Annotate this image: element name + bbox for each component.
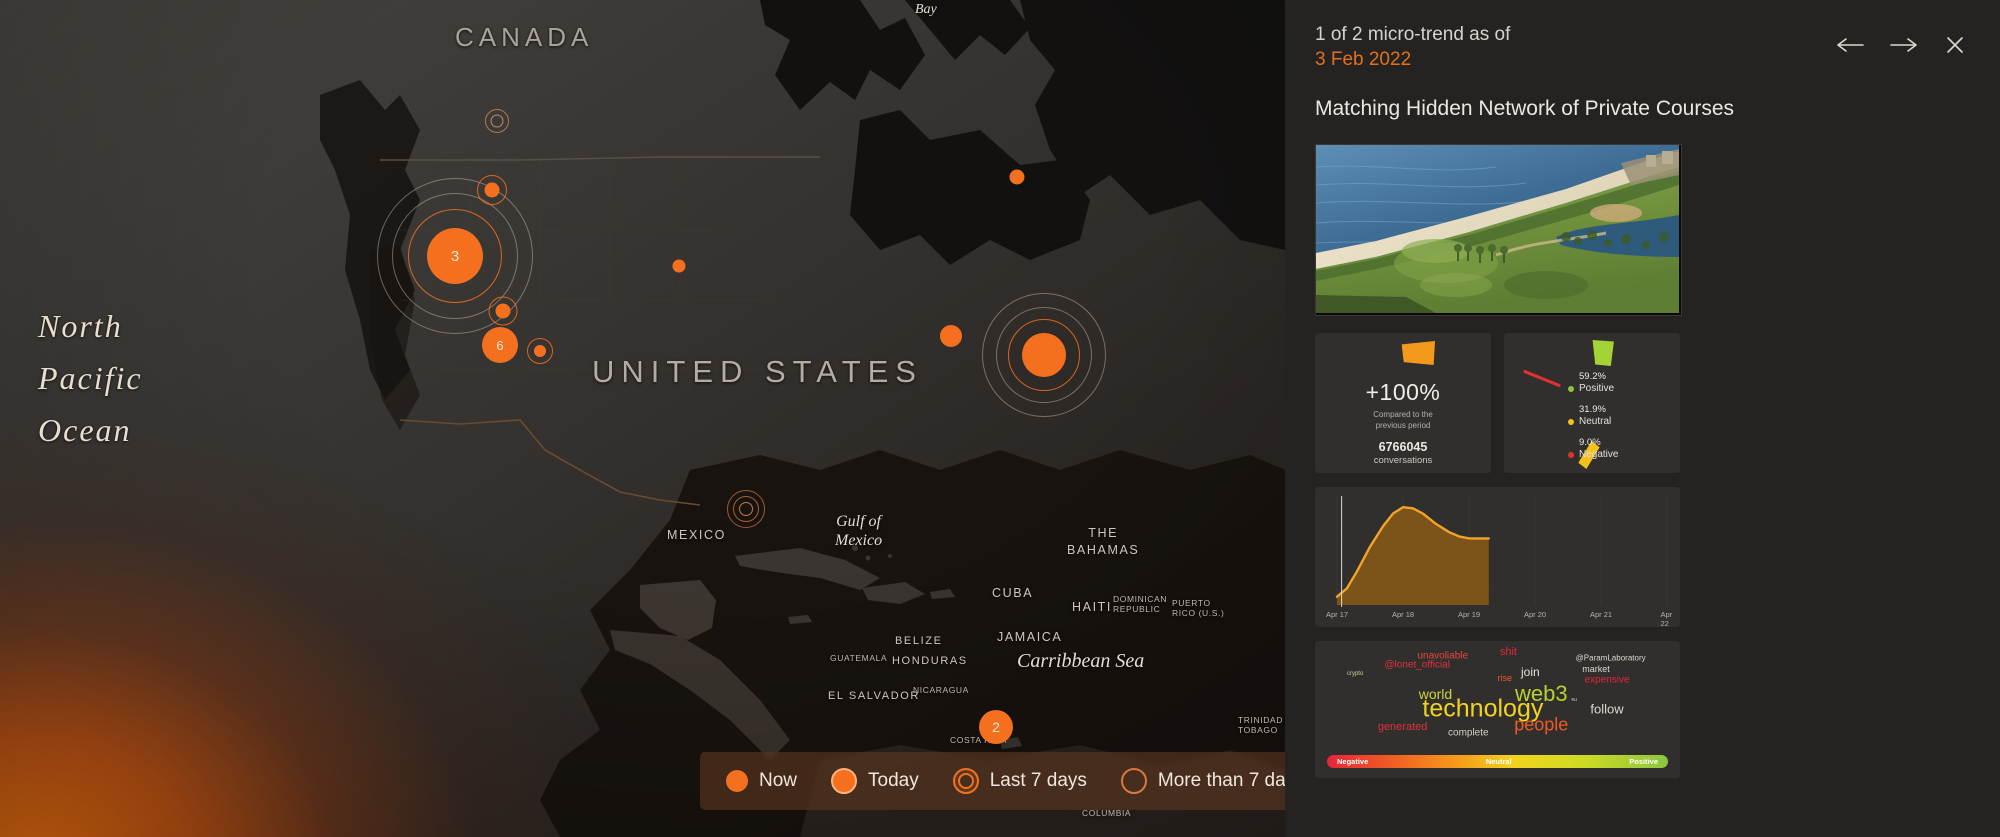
red-line-icon — [1523, 370, 1561, 388]
wordcloud-word[interactable]: shit — [1500, 646, 1517, 658]
legend-now-icon — [726, 770, 748, 792]
change-stats: +100% Compared to the previous period 67… — [1315, 379, 1491, 466]
wordcloud: technologyweb3peopleworldfollowjoincompl… — [1315, 641, 1680, 751]
wordcloud-word[interactable]: rise — [1498, 673, 1513, 683]
trend-chart — [1315, 487, 1680, 627]
change-percent: +100% — [1315, 379, 1491, 406]
sentiment-label: Negative — [1579, 449, 1618, 461]
prev-arrow-icon[interactable] — [1836, 30, 1866, 60]
panel-header: 1 of 2 micro-trend as of 3 Feb 2022 — [1315, 22, 1970, 72]
wordcloud-word[interactable]: crypto — [1347, 671, 1363, 677]
next-arrow-icon[interactable] — [1888, 30, 1918, 60]
app-root: North Pacific Ocean CANADA UNITED STATES… — [0, 0, 2000, 837]
wordcloud-word[interactable]: world — [1419, 686, 1452, 702]
wordcloud-word[interactable]: complete — [1448, 728, 1489, 739]
wordcloud-word[interactable]: follow — [1590, 702, 1623, 717]
scale-label-negative: Negative — [1337, 757, 1368, 766]
wordcloud-word[interactable]: @lonet_official — [1384, 660, 1450, 671]
marker-dot[interactable]: 3 — [427, 228, 483, 284]
chart-x-tick: Apr 17 — [1326, 610, 1348, 619]
change-subtext-line2: previous period — [1315, 420, 1491, 431]
wordcloud-word[interactable]: eu — [1571, 697, 1577, 703]
marker-dot[interactable] — [1010, 170, 1025, 185]
scale-label-neutral: Neutral — [1486, 757, 1512, 766]
marker-ring-inner — [739, 502, 753, 516]
conversations-label: conversations — [1315, 455, 1491, 466]
wordcloud-word[interactable]: people — [1514, 714, 1568, 735]
legend-label: Now — [759, 770, 797, 792]
sentiment-positive: 59.2% Positive — [1568, 371, 1618, 395]
chart-x-tick: Apr 21 — [1590, 610, 1612, 619]
hero-image — [1315, 144, 1682, 316]
sentiment-label-row: Negative — [1568, 449, 1618, 461]
legend-today-icon — [831, 768, 857, 794]
sentiment-card: 59.2% Positive 31.9% Neutral — [1504, 333, 1680, 473]
legend-item-more-than-7-days[interactable]: More than 7 days ago — [1121, 768, 1285, 794]
sentiment-label-row: Neutral — [1568, 416, 1618, 428]
close-icon[interactable] — [1940, 30, 1970, 60]
marker-dot[interactable] — [673, 260, 686, 273]
marker-dot[interactable]: 6 — [482, 327, 518, 363]
change-subtext: Compared to the previous period — [1315, 409, 1491, 431]
sentiment-neutral: 31.9% Neutral — [1568, 404, 1618, 428]
map-landmass — [0, 0, 1285, 837]
sentiment-pct: 59.2% — [1568, 371, 1618, 383]
legend-item-today[interactable]: Today — [831, 768, 919, 794]
legend-last7-icon — [953, 768, 979, 794]
sentiment-bullet-icon — [1568, 419, 1574, 425]
sentiment-negative: 9.0% Negative — [1568, 437, 1618, 461]
wordcloud-word[interactable]: market — [1582, 664, 1610, 674]
map-legend: Now Today Last 7 days More than 7 days a… — [700, 752, 1285, 810]
sentiment-pct: 31.9% — [1568, 404, 1618, 416]
marker-dot[interactable] — [940, 325, 962, 347]
change-card: +100% Compared to the previous period 67… — [1315, 333, 1491, 473]
chart-x-tick: Apr 18 — [1392, 610, 1414, 619]
chart-x-tick: Apr 22 — [1661, 610, 1674, 627]
panel-counter-text: 1 of 2 micro-trend as of — [1315, 24, 1510, 45]
map-canvas[interactable]: North Pacific Ocean CANADA UNITED STATES… — [0, 0, 1285, 837]
legend-label: More than 7 days ago — [1158, 770, 1285, 792]
sentiment-bullet-icon — [1568, 386, 1574, 392]
legend-more-icon — [1121, 768, 1147, 794]
detail-panel: 1 of 2 micro-trend as of 3 Feb 2022 Matc… — [1285, 0, 2000, 837]
chart-x-tick: Apr 20 — [1524, 610, 1546, 619]
sentiment-bullet-icon — [1568, 452, 1574, 458]
legend-item-now[interactable]: Now — [726, 770, 797, 792]
panel-nav — [1836, 22, 1970, 60]
legend-item-last-7-days[interactable]: Last 7 days — [953, 768, 1087, 794]
marker-dot[interactable] — [534, 345, 546, 357]
wordcloud-word[interactable]: expensive — [1584, 674, 1629, 685]
trend-chart-card[interactable]: Apr 17Apr 18Apr 19Apr 20Apr 21Apr 22 — [1315, 487, 1680, 627]
marker-dot[interactable]: 2 — [979, 710, 1013, 744]
scale-label-positive: Positive — [1629, 757, 1658, 766]
metric-cards: +100% Compared to the previous period 67… — [1315, 333, 1970, 473]
panel-counter: 1 of 2 micro-trend as of 3 Feb 2022 — [1315, 22, 1510, 72]
chart-x-tick: Apr 19 — [1458, 610, 1480, 619]
chart-x-axis: Apr 17Apr 18Apr 19Apr 20Apr 21Apr 22 — [1315, 610, 1680, 622]
conversations-value: 6766045 — [1315, 440, 1491, 454]
marker-ring-inner — [491, 115, 504, 128]
panel-date: 3 Feb 2022 — [1315, 49, 1411, 70]
sentiment-pct: 9.0% — [1568, 437, 1618, 449]
green-shape-icon — [1590, 340, 1616, 366]
panel-title: Matching Hidden Network of Private Cours… — [1315, 94, 1745, 123]
legend-label: Last 7 days — [990, 770, 1087, 792]
marker-dot[interactable] — [1022, 333, 1066, 377]
orange-shape-icon — [1401, 341, 1435, 365]
sentiment-label-row: Positive — [1568, 383, 1618, 395]
wordcloud-word[interactable]: generated — [1378, 721, 1428, 733]
legend-label: Today — [868, 770, 919, 792]
sentiment-scale-bar: Negative Neutral Positive — [1327, 755, 1668, 768]
wordcloud-word[interactable]: join — [1521, 665, 1540, 679]
sentiment-label: Positive — [1579, 383, 1614, 395]
change-subtext-line1: Compared to the — [1315, 409, 1491, 420]
wordcloud-word[interactable]: web3 — [1515, 681, 1568, 707]
marker-dot[interactable] — [485, 183, 500, 198]
wordcloud-card[interactable]: technologyweb3peopleworldfollowjoincompl… — [1315, 641, 1680, 778]
sentiment-list: 59.2% Positive 31.9% Neutral — [1568, 371, 1618, 470]
wordcloud-word[interactable]: @ParamLaboratory — [1576, 653, 1646, 662]
marker-dot[interactable] — [496, 304, 511, 319]
sentiment-label: Neutral — [1579, 416, 1611, 428]
